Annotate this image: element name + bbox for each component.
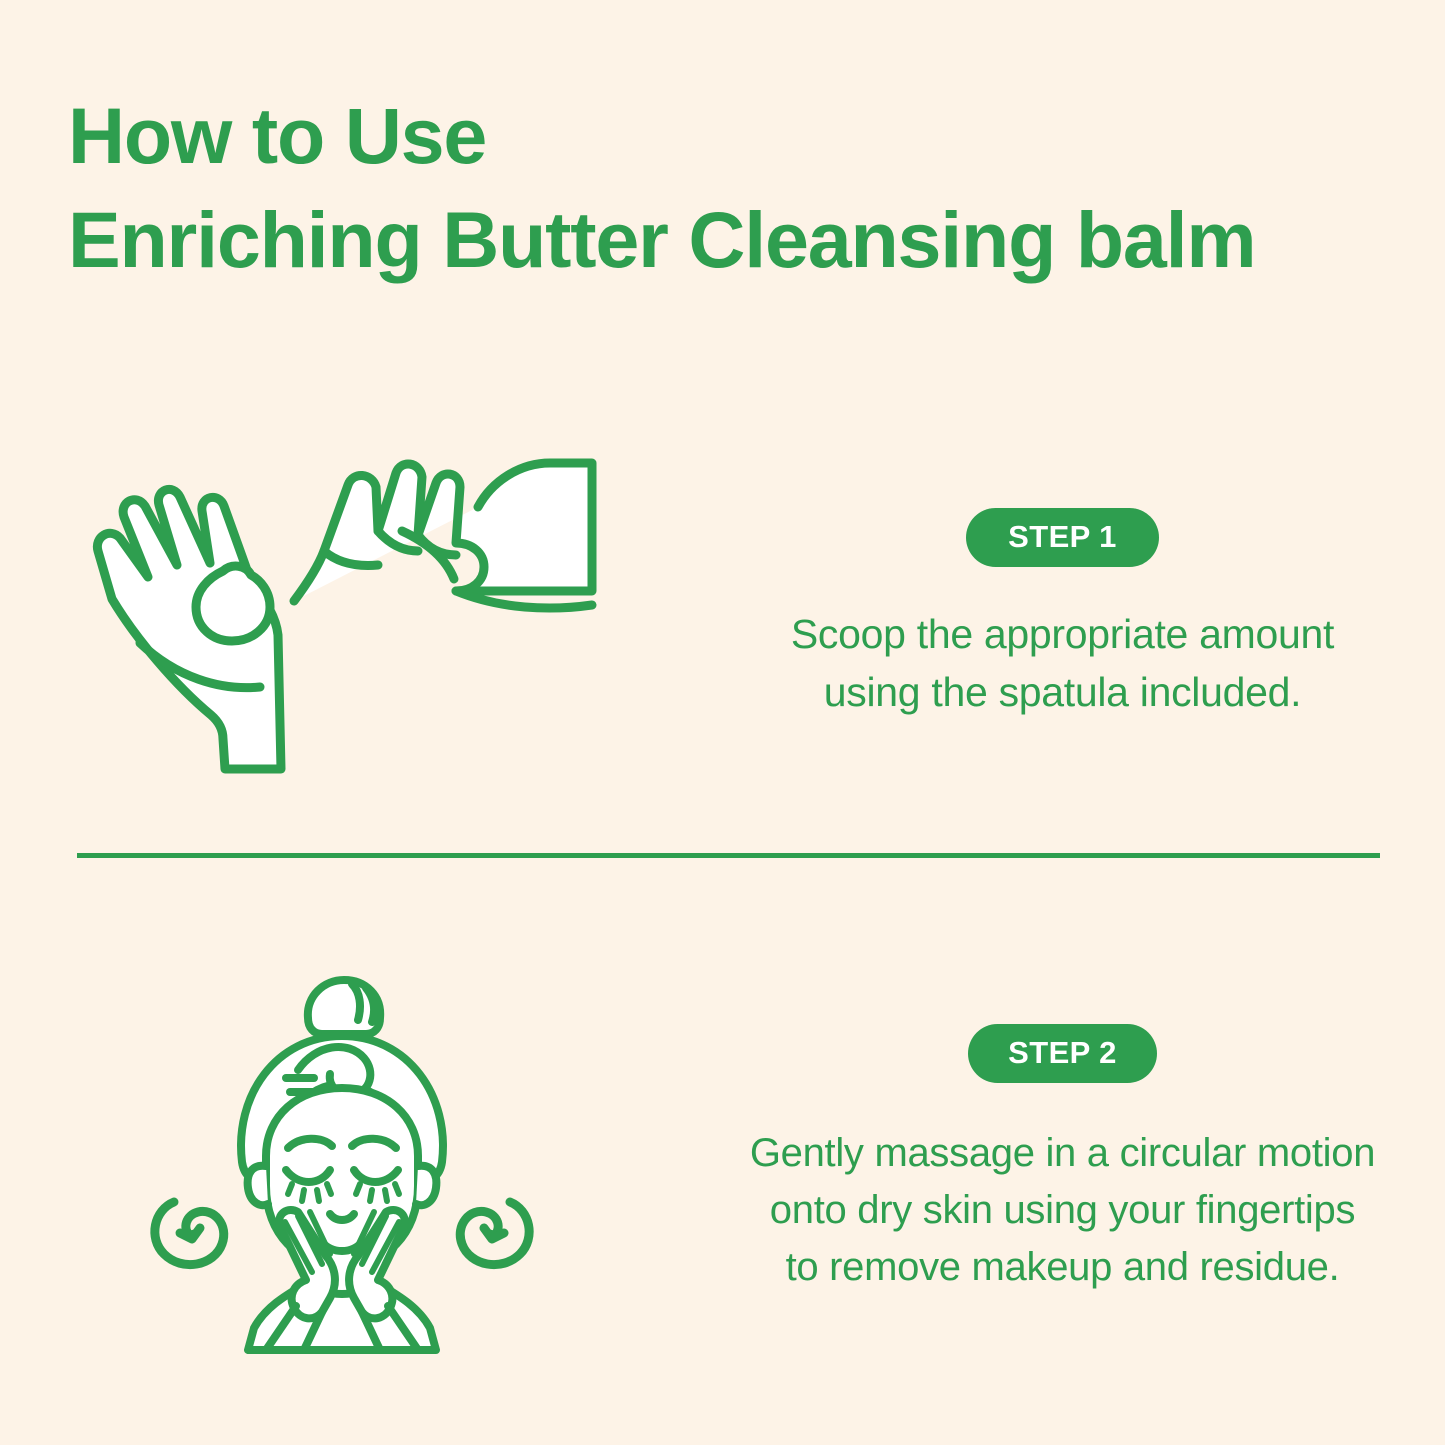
step-1-description: Scoop the appropriate amount using the s… <box>791 605 1334 721</box>
step-1-text-cell: STEP 1 Scoop the appropriate amount usin… <box>680 508 1445 721</box>
step-1-row: STEP 1 Scoop the appropriate amount usin… <box>0 404 1445 824</box>
step-2-description: Gently massage in a circular motion onto… <box>750 1125 1375 1296</box>
step-2-badge: STEP 2 <box>968 1024 1157 1083</box>
hand-scooping-balm-with-spatula-icon <box>80 439 600 789</box>
page-title: How to Use Enriching Butter Cleansing ba… <box>68 84 1398 292</box>
woman-massaging-face-icon <box>130 950 550 1370</box>
step-2-text-cell: STEP 2 Gently massage in a circular moti… <box>680 1024 1445 1296</box>
how-to-use-infographic: How to Use Enriching Butter Cleansing ba… <box>0 0 1445 1445</box>
step-1-illustration-cell <box>0 439 680 789</box>
page-title-line-2: Enriching Butter Cleansing balm <box>68 188 1398 292</box>
step-2-illustration-cell <box>0 950 680 1370</box>
section-divider <box>77 853 1380 858</box>
step-1-badge: STEP 1 <box>966 508 1159 567</box>
page-title-line-1: How to Use <box>68 84 1398 188</box>
step-2-row: STEP 2 Gently massage in a circular moti… <box>0 930 1445 1390</box>
